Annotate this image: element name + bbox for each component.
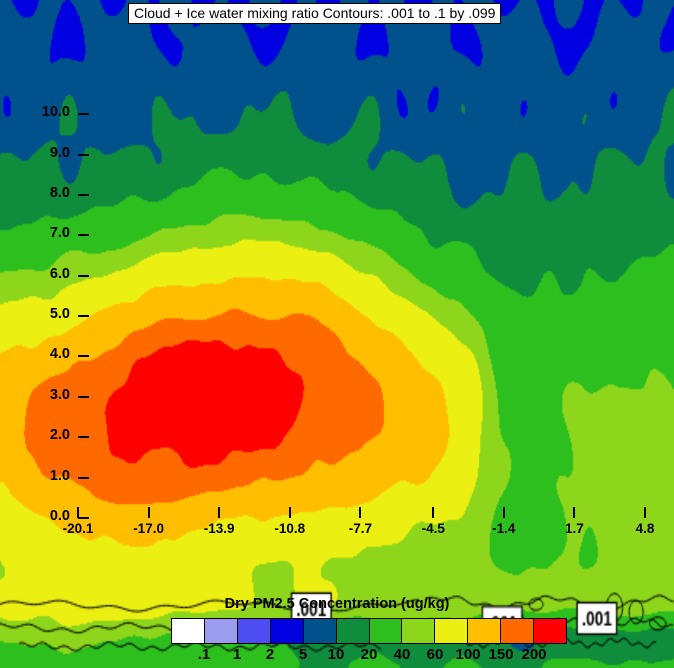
filled-contour-field (0, 0, 567, 424)
contour-title-box: Cloud + Ice water mixing ratio Contours:… (128, 3, 501, 24)
colorbar-swatch (534, 619, 566, 643)
x-tick (218, 507, 220, 518)
y-tick-label: 5.0 (10, 306, 70, 322)
y-tick (78, 396, 89, 398)
y-tick-label: 2.0 (10, 427, 70, 443)
x-tick (148, 507, 150, 518)
colorbar-swatch (468, 619, 501, 643)
colorbar-swatch (370, 619, 403, 643)
colorbar-swatch (337, 619, 370, 643)
colorbar-swatch (271, 619, 304, 643)
x-tick (432, 507, 434, 518)
y-tick (78, 275, 89, 277)
y-tick (78, 315, 89, 317)
colorbar-swatch (172, 619, 205, 643)
x-tick-label: 4.8 (615, 521, 674, 536)
x-tick (573, 507, 575, 518)
x-tick (77, 507, 79, 518)
x-tick (359, 507, 361, 518)
x-tick-label: -10.8 (260, 521, 320, 536)
x-tick-label: 1.7 (544, 521, 604, 536)
x-tick (503, 507, 505, 518)
x-tick (289, 507, 291, 518)
x-tick-label: -7.7 (330, 521, 390, 536)
y-tick-label: 9.0 (10, 145, 70, 161)
y-tick-label: 7.0 (10, 225, 70, 241)
colorbar-swatch (402, 619, 435, 643)
y-tick-label: 4.0 (10, 346, 70, 362)
colorbar-title: Dry PM2.5 Concentration (ug/kg) (0, 596, 674, 612)
colorbar-swatch (435, 619, 468, 643)
colorbar-swatch (205, 619, 238, 643)
y-tick-label: 10.0 (10, 104, 70, 120)
colorbar-swatch (238, 619, 271, 643)
y-tick (78, 113, 89, 115)
x-tick (644, 507, 646, 518)
x-tick-label: -17.0 (119, 521, 179, 536)
y-tick-label: 3.0 (10, 387, 70, 403)
y-tick (78, 517, 89, 519)
colorbar-label: 200 (512, 646, 556, 663)
x-tick-label: -13.9 (189, 521, 249, 536)
colorbar (171, 618, 567, 644)
y-tick (78, 355, 89, 357)
y-tick (78, 154, 89, 156)
x-tick-label: -1.4 (474, 521, 534, 536)
colorbar-swatch (304, 619, 337, 643)
y-tick (78, 194, 89, 196)
x-tick-label: -20.1 (48, 521, 108, 536)
y-tick (78, 234, 89, 236)
colorbar-swatch (501, 619, 534, 643)
y-tick-label: 8.0 (10, 185, 70, 201)
y-tick-label: 1.0 (10, 468, 70, 484)
y-tick (78, 436, 89, 438)
colorbar-tick-labels: .112510204060100150200 (171, 646, 567, 666)
cross-section-plot: Cloud + Ice water mixing ratio Contours:… (0, 0, 567, 424)
y-tick (78, 477, 89, 479)
x-tick-label: -4.5 (403, 521, 463, 536)
y-tick-label: 6.0 (10, 266, 70, 282)
